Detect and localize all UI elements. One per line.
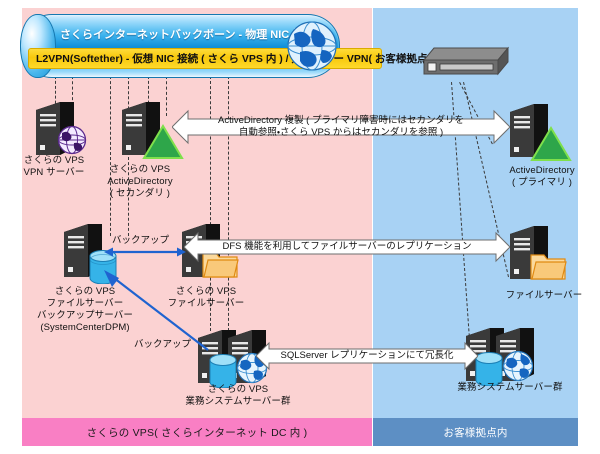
connector-file-backup-a	[110, 76, 111, 236]
connector-ad-secondary-b	[166, 76, 167, 116]
network-diagram: さくらインターネットバックボーン - 物理 NIC 接続 L2VPN(Softe…	[0, 0, 600, 454]
zone-sakura-vps-label-bar: さくらの VPS( さくらインターネット DC 内 )	[22, 418, 372, 446]
l2vpn-label: L2VPN(Softether) - 仮想 NIC 接続 ( さくら VPS 内…	[29, 51, 444, 66]
globe-icon	[502, 350, 534, 382]
active-directory-icon	[530, 126, 572, 162]
arrow-sql-replication: SQLServer レプリケーションにて冗長化	[256, 340, 478, 372]
folder-icon	[530, 250, 570, 282]
arrow-backup-file-label: バックアップ	[112, 232, 169, 246]
database-cylinder-icon	[474, 352, 504, 386]
arrow-sql-replication-label: SQLServer レプリケーションにて冗長化	[256, 340, 478, 372]
arrow-backup-file	[104, 246, 186, 258]
globe-icon	[57, 125, 87, 155]
arrow-dfs-replication-label: DFS 機能を利用してファイルサーバーのレプリケーション	[184, 230, 510, 264]
arrow-ad-replication-label: ActiveDirectory 複製 ( プライマリ障害時にはセカンダリを 自動…	[172, 106, 510, 148]
arrow-backup-biz-label: バックアップ	[134, 336, 191, 350]
customer-biz-servers-label: 業務システムサーバー群	[440, 382, 580, 394]
globe-icon	[286, 20, 338, 72]
zone-customer-label-bar: お客様拠点内	[373, 418, 578, 446]
vps-vpn-server-label: さくらの VPS VPN サーバー	[8, 155, 100, 179]
vps-biz-servers-label: さくらの VPS 業務システムサーバー群	[168, 384, 308, 408]
arrow-ad-replication: ActiveDirectory 複製 ( プライマリ障害時にはセカンダリを 自動…	[172, 106, 510, 148]
zone-sakura-vps-label: さくらの VPS( さくらインターネット DC 内 )	[22, 418, 372, 446]
zone-customer-label: お客様拠点内	[373, 418, 578, 446]
vps-ad-secondary-label: さくらの VPS ActiveDirectory ( セカンダリ )	[92, 164, 188, 200]
database-cylinder-icon	[208, 354, 238, 388]
customer-file-server-label: ファイルサーバー	[496, 290, 592, 302]
router-icon	[420, 44, 512, 82]
ad-primary-label: ActiveDirectory ( プライマリ )	[492, 165, 592, 189]
arrow-dfs-replication: DFS 機能を利用してファイルサーバーのレプリケーション	[184, 230, 510, 264]
